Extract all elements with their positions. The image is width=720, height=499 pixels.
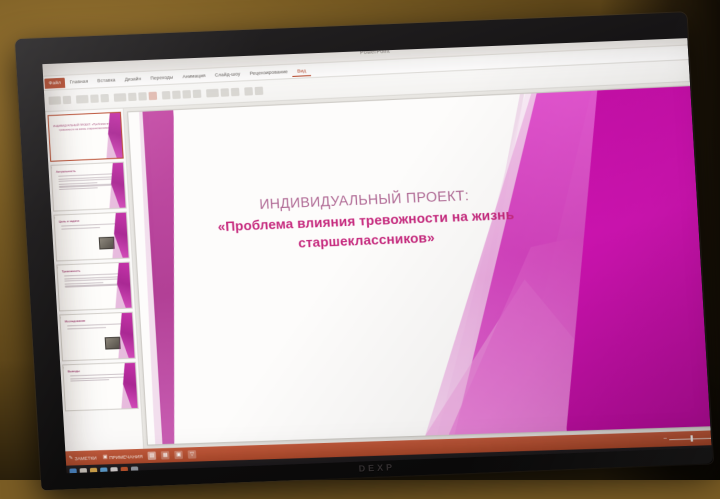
ribbon-group-clipboard: [48, 96, 71, 105]
notes-label: ЗАМЕТКИ: [74, 455, 96, 461]
ribbon-group-paragraph: [162, 90, 202, 100]
notes-button[interactable]: ✎ ЗАМЕТКИ: [69, 455, 97, 461]
slide-thumbnail-6[interactable]: 6 Выводы: [62, 362, 139, 412]
screen-content: PowerPoint Вход Файл Главная Вставка: [42, 38, 711, 473]
ribbon-tab-slideshow[interactable]: Слайд-шоу: [210, 68, 245, 80]
bold-icon[interactable]: [128, 93, 137, 102]
thumbnail-text-line: [61, 223, 120, 227]
font-name-icon[interactable]: [114, 93, 127, 102]
slide-editing-stage[interactable]: ИНДИВИДУАЛЬНЫЙ ПРОЕКТ: «Проблема влияния…: [124, 81, 711, 449]
slide-thumbnail-5[interactable]: 5 Исследование: [59, 312, 135, 362]
paste-icon[interactable]: [48, 96, 61, 105]
monitor-bezel: DEXP PowerPoint Вход: [15, 12, 713, 490]
comments-button[interactable]: ▣ ПРИМЕЧАНИЯ: [103, 453, 143, 459]
thumbnail-picture-icon: [99, 237, 115, 250]
computer-monitor: DEXP PowerPoint Вход: [2, 2, 720, 499]
thumbnail-picture-icon: [105, 337, 121, 350]
font-color-icon[interactable]: [148, 92, 157, 101]
search-icon[interactable]: [80, 468, 88, 474]
thumbnail-text-line: [67, 323, 126, 326]
numbering-icon[interactable]: [172, 91, 181, 100]
view-reading-button[interactable]: ▣: [174, 451, 183, 459]
comments-label: ПРИМЕЧАНИЯ: [109, 453, 143, 459]
app-title: PowerPoint: [360, 48, 390, 56]
replace-icon[interactable]: [255, 87, 264, 96]
arrange-icon[interactable]: [220, 88, 229, 97]
thumbnail-title-1: ИНДИВИДУАЛЬНЫЙ ПРОЕКТ: «Проблема влияния…: [52, 122, 118, 133]
align-center-icon[interactable]: [193, 90, 202, 99]
italic-icon[interactable]: [138, 92, 147, 101]
mail-icon[interactable]: [110, 467, 118, 474]
new-slide-icon[interactable]: [76, 95, 89, 104]
slide-thumbnail-3[interactable]: 3 Цель и задачи: [53, 212, 129, 262]
view-normal-button[interactable]: ▤: [148, 452, 157, 460]
ribbon-tab-view[interactable]: Вид: [292, 65, 311, 77]
ribbon-group-font: [114, 92, 158, 102]
slide-thumbnail-1[interactable]: 1 ИНДИВИДУАЛЬНЫЙ ПРОЕКТ: «Проблема влиян…: [47, 112, 123, 162]
ribbon-tab-file[interactable]: Файл: [44, 77, 65, 88]
browser-icon[interactable]: [100, 467, 108, 473]
view-slideshow-button[interactable]: ▽: [188, 450, 197, 458]
zoom-out-button[interactable]: −: [663, 436, 667, 442]
zoom-slider-handle[interactable]: [691, 435, 694, 441]
find-icon[interactable]: [244, 87, 253, 96]
view-slide-sorter-button[interactable]: ▦: [161, 451, 170, 459]
ribbon-tab-insert[interactable]: Вставка: [92, 75, 120, 86]
thumbnail-text-line: [67, 327, 106, 330]
ribbon-group-editing: [244, 87, 263, 96]
ribbon-group-slides: [76, 94, 109, 104]
thumbnail-text-line: [59, 187, 98, 190]
slide-thumbnail-2[interactable]: 2 Актуальность: [50, 162, 126, 212]
ribbon-tab-transitions[interactable]: Переходы: [145, 72, 178, 84]
monitor-brand-logo: DEXP: [358, 462, 395, 473]
slide-thumbnail-4[interactable]: 4 Тревожность: [56, 262, 132, 312]
start-icon[interactable]: [69, 468, 77, 473]
zoom-slider-track[interactable]: [669, 437, 711, 440]
cut-icon[interactable]: [63, 96, 72, 105]
quick-styles-icon[interactable]: [231, 88, 240, 97]
ribbon-tab-animations[interactable]: Анимация: [178, 70, 211, 82]
thumbnail-text-line: [61, 227, 100, 230]
current-slide[interactable]: ИНДИВИДУАЛЬНЫЙ ПРОЕКТ: «Проблема влияния…: [128, 85, 711, 444]
editor-work-area: 1 ИНДИВИДУАЛЬНЫЙ ПРОЕКТ: «Проблема влиян…: [45, 81, 711, 452]
thumbnail-text-line: [70, 379, 109, 382]
powerpoint-window: PowerPoint Вход Файл Главная Вставка: [42, 38, 711, 451]
ribbon-group-drawing: [206, 88, 240, 98]
powerpoint-icon[interactable]: [121, 466, 129, 473]
status-left-group: ✎ ЗАМЕТКИ ▣ ПРИМЕЧАНИЯ: [69, 453, 143, 460]
align-left-icon[interactable]: [182, 90, 191, 99]
ribbon-tab-review[interactable]: Рецензирование: [245, 66, 293, 79]
ribbon-tab-home[interactable]: Главная: [65, 76, 93, 87]
ribbon-tab-design[interactable]: Дизайн: [120, 73, 146, 84]
thumbnail-heading-6: Выводы: [68, 367, 133, 373]
word-icon[interactable]: [131, 466, 139, 473]
layout-icon[interactable]: [90, 94, 99, 103]
notes-icon: ✎: [69, 456, 74, 461]
explorer-icon[interactable]: [90, 467, 98, 473]
shapes-icon[interactable]: [206, 89, 219, 98]
monitor-screen: PowerPoint Вход Файл Главная Вставка: [42, 38, 711, 473]
zoom-control[interactable]: − + 119%: [663, 433, 711, 443]
bullets-icon[interactable]: [162, 91, 171, 100]
comments-icon: ▣: [103, 455, 108, 460]
reset-icon[interactable]: [100, 94, 109, 103]
